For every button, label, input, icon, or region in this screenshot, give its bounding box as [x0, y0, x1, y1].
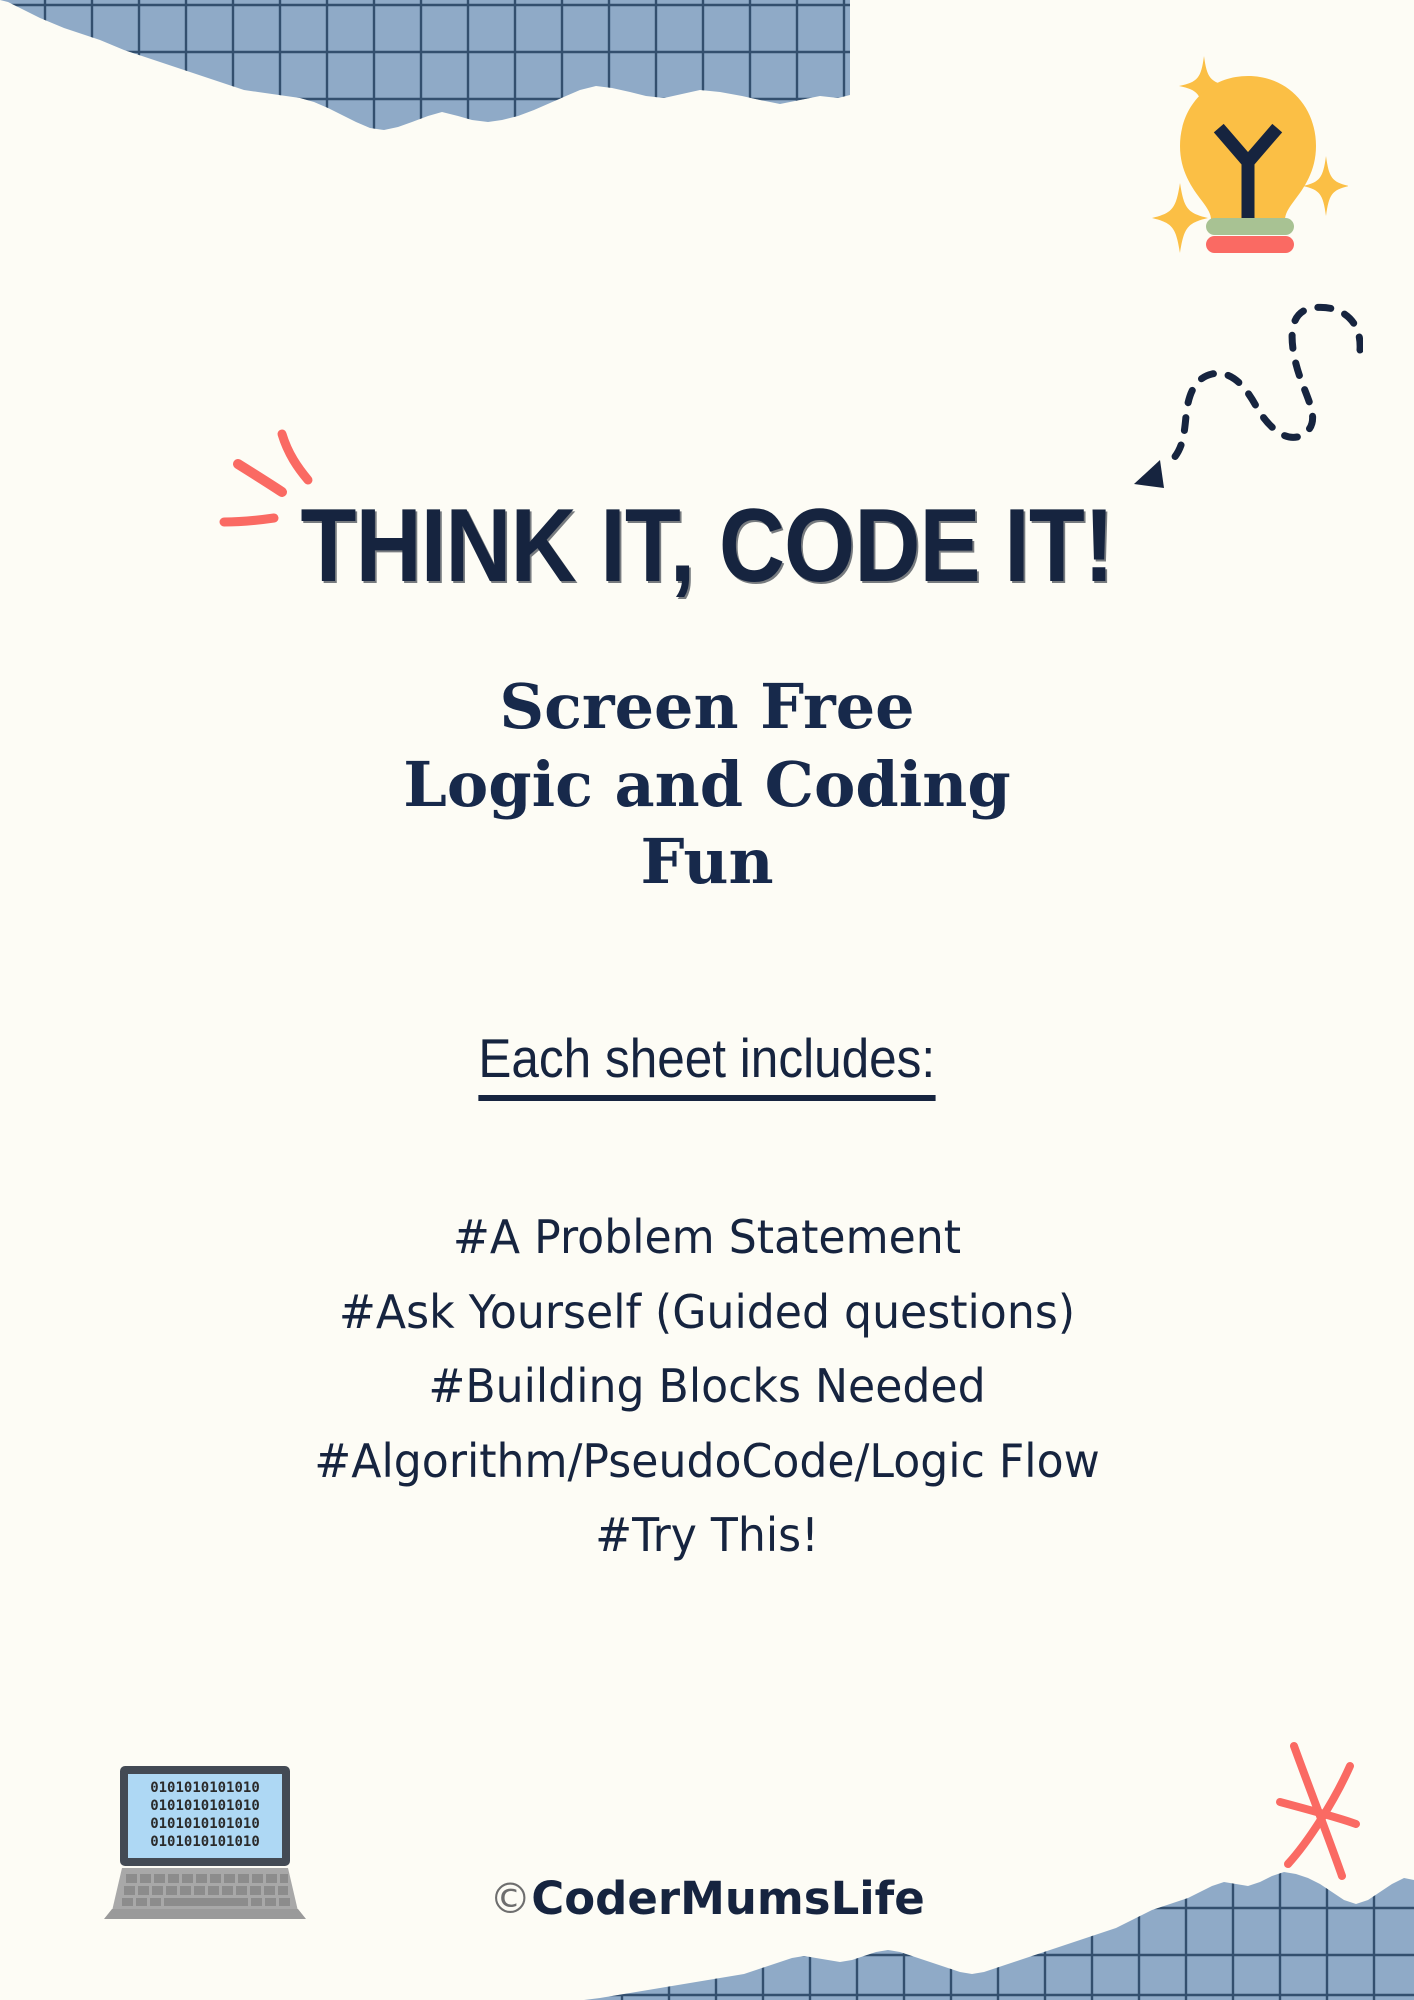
bulb-base-stripe-green [1206, 218, 1294, 235]
subtitle-line-3: Fun [0, 823, 1414, 901]
brand-name: CoderMumsLife [531, 1872, 925, 1925]
dashed-arrow-icon [1098, 292, 1363, 507]
bulb-base-stripe-red [1206, 236, 1294, 253]
copyright-icon: © [489, 1874, 531, 1923]
list-item: #Ask Yourself (Guided questions) [28, 1275, 1385, 1350]
list-item: #A Problem Statement [28, 1200, 1385, 1275]
includes-heading-text: Each sheet includes: [479, 1030, 936, 1101]
feature-list: #A Problem Statement #Ask Yourself (Guid… [0, 1200, 1414, 1573]
footer-credit: ©CoderMumsLife [0, 1872, 1414, 1925]
subtitle-line-1: Screen Free [0, 668, 1414, 746]
binary-line: 0101010101010 [150, 1834, 260, 1850]
list-item: #Building Blocks Needed [28, 1349, 1385, 1424]
poster-canvas: 0101010101010 0101010101010 010101010101… [0, 0, 1414, 2000]
list-item: #Try This! [28, 1498, 1385, 1573]
includes-heading: Each sheet includes: [0, 1030, 1414, 1101]
subtitle-line-2: Logic and Coding [0, 746, 1414, 824]
binary-line: 0101010101010 [150, 1816, 260, 1832]
page-title: THINK IT, CODE IT! [85, 494, 1329, 598]
list-item: #Algorithm/PseudoCode/Logic Flow [28, 1424, 1385, 1499]
binary-line: 0101010101010 [150, 1780, 260, 1796]
binary-line: 0101010101010 [150, 1798, 260, 1814]
accent-stroke [238, 464, 282, 492]
lightbulb-icon [1128, 38, 1348, 253]
subtitle-block: Screen Free Logic and Coding Fun [0, 668, 1414, 901]
arrowhead [1134, 460, 1164, 488]
accent-stroke [282, 434, 308, 480]
torn-paper-top-left-decoration [0, 0, 850, 140]
